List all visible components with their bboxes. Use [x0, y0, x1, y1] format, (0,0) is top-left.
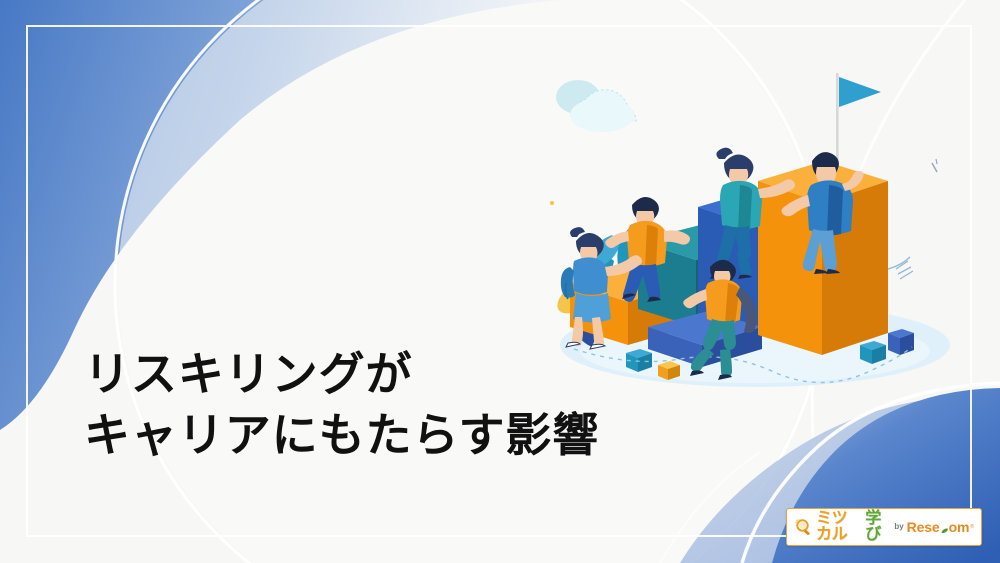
career-growth-illustration [540, 55, 960, 395]
leaf-icon [940, 523, 949, 532]
logo-brand-manabi: 学び [865, 511, 887, 543]
logo-parent-brand-part1: Rese [907, 520, 940, 534]
page-title: リスキリングが キャリアにもたらす影響 [84, 344, 599, 465]
page-title-line-1: リスキリングが [84, 344, 599, 405]
page-title-line-2: キャリアにもたらす影響 [84, 405, 599, 466]
logo-brand-mitsukaru: ミツカル [816, 511, 860, 543]
logo-parent-brand-part2: om [949, 520, 970, 534]
slide-canvas: リスキリングが キャリアにもたらす影響 ミツカル 学び by Rese om ® [0, 0, 1000, 563]
logo-by-label: by [894, 523, 903, 531]
cloud-icon [556, 80, 636, 132]
registered-mark: ® [970, 524, 974, 530]
brand-logo-badge[interactable]: ミツカル 学び by Rese om ® [786, 508, 982, 546]
magnifying-glass-icon [794, 517, 814, 537]
flag-icon [836, 73, 881, 169]
